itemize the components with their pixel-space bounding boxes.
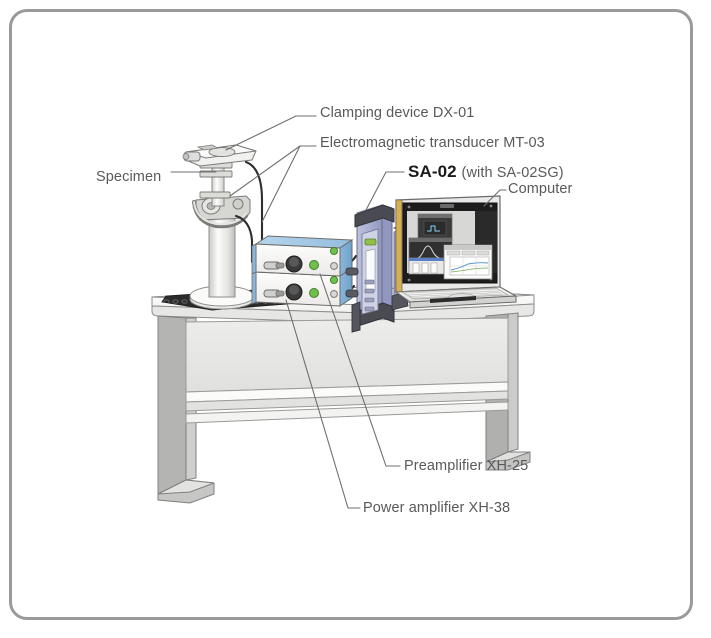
power-amplifier-xh38 [252, 236, 352, 306]
leader-clamping [226, 116, 316, 150]
label-preamplifier: Preamplifier XH-25 [404, 459, 528, 474]
label-sa02-model: SA-02 [408, 162, 457, 181]
label-sa02: SA-02 (with SA-02SG) [408, 163, 564, 181]
label-computer: Computer [508, 182, 572, 197]
label-sa02-option: (with SA-02SG) [462, 165, 564, 181]
sa02-analyzer [346, 205, 394, 332]
figure-page: Specimen Clamping device DX-01 Electroma… [0, 0, 711, 638]
laptop-computer [396, 196, 516, 308]
label-clamping-device: Clamping device DX-01 [320, 106, 474, 121]
leader-transducer-b [262, 146, 300, 222]
label-electromagnetic-transducer: Electromagnetic transducer MT-03 [320, 136, 545, 151]
system-diagram-illustration [0, 0, 711, 638]
label-specimen: Specimen [96, 170, 161, 185]
label-power-amplifier: Power amplifier XH-38 [363, 501, 510, 516]
